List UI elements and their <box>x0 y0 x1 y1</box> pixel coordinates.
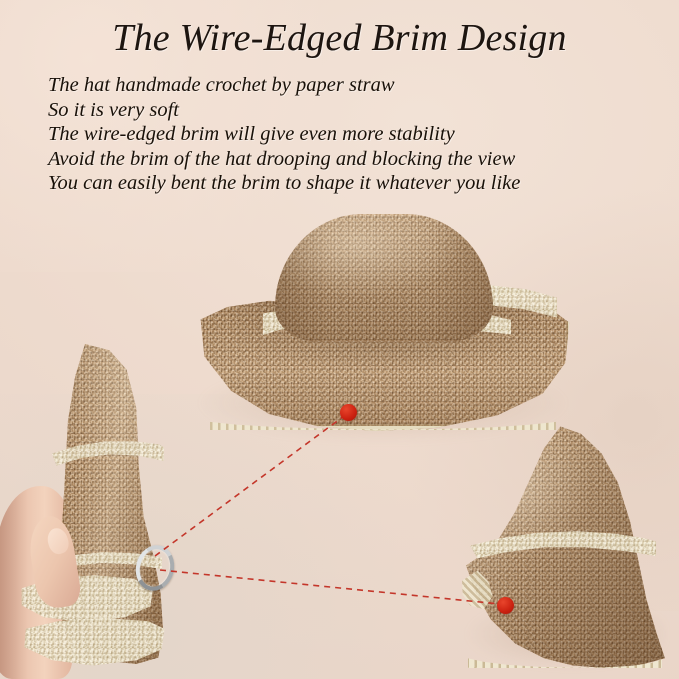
page-title: The Wire-Edged Brim Design <box>0 16 679 60</box>
callout-marker-folded-hat-brim <box>497 597 514 614</box>
bucket-hat-crown <box>275 214 493 342</box>
description-line-1: The hat handmade crochet by paper straw <box>48 73 656 98</box>
description-line-2: So it is very soft <box>48 98 656 123</box>
description-line-5: You can easily bent the brim to shape it… <box>48 171 656 196</box>
description-line-4: Avoid the brim of the hat drooping and b… <box>48 147 656 172</box>
rolled-hat-in-hand <box>0 336 204 679</box>
description-line-3: The wire-edged brim will give even more … <box>48 122 656 147</box>
bucket-hat-full <box>193 214 573 432</box>
description-block: The hat handmade crochet by paper straw … <box>48 73 656 196</box>
infographic-canvas: The Wire-Edged Brim Design The hat handm… <box>0 0 679 679</box>
bucket-hat-crown-shading <box>275 214 493 342</box>
folded-brim-hat <box>462 424 667 668</box>
hand-shading <box>0 486 72 679</box>
callout-marker-main-hat-brim <box>340 404 357 421</box>
